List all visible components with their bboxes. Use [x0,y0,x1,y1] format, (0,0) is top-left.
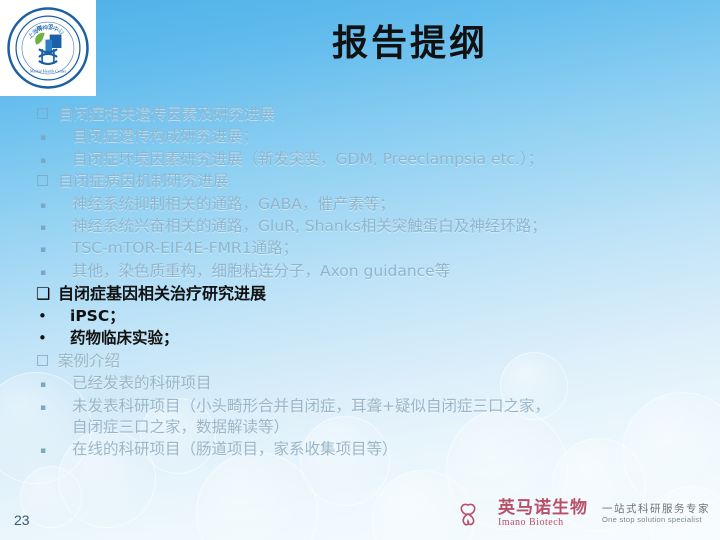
brand-tagline-cn: 一站式科研服务专家 [602,503,710,515]
presentation-slide: 上海市 精神卫 生中心 Mental Health Center 报告提纲 □自… [0,0,720,540]
decorative-bubble [372,470,474,540]
outline-item: ▪自闭症遗传构成研究进展； [36,126,698,147]
outline-item-label: 药物临床实验； [60,328,698,349]
outline-list: □自闭症相关遗传因素及研究进展▪自闭症遗传构成研究进展；▪自闭症环境因素研究进展… [36,104,698,462]
svg-text:Mental Health Center: Mental Health Center [30,68,67,73]
square-bullet-icon: □ [36,104,58,123]
outline-item-label: 神经系统兴奋相关的通路，GluR, Shanks相关突触蛋白及神经环路； [62,216,698,237]
outline-item-label: 自闭症遗传构成研究进展； [62,126,698,147]
outline-item-label: 在线的科研项目（肠道项目，家系收集项目等） [62,439,698,460]
outline-item: ▪已经发表的科研项目 [36,373,698,394]
outline-item-label: 神经系统抑制相关的通路，GABA，催产素等； [62,194,698,215]
outline-item: ▪TSC-mTOR-EIF4E-FMR1通路； [36,238,698,259]
outline-item-label: 案例介绍 [58,351,698,372]
small-bullet-icon: ▪ [36,216,62,234]
brand-tagline: 一站式科研服务专家 One stop solution specialist [596,503,710,524]
outline-item-label: TSC-mTOR-EIF4E-FMR1通路； [62,238,698,259]
outline-item-label: iPSC； [60,306,698,327]
outline-item-label: 未发表科研项目（小头畸形合并自闭症，耳聋+疑似自闭症三口之家， 自闭症三口之家，… [62,396,698,439]
brand-name-en: Imano Biotech [498,518,588,529]
outline-item: ❑自闭症基因相关治疗研究进展 [36,283,698,305]
square-bullet-icon: □ [36,351,58,370]
outline-item: ▪神经系统抑制相关的通路，GABA，催产素等； [36,194,698,215]
small-bullet-icon: ▪ [36,126,62,144]
square-bullet-icon: □ [36,171,58,190]
organization-logo-plate: 上海市 精神卫 生中心 Mental Health Center [0,0,96,96]
small-bullet-icon: ▪ [36,396,62,414]
decorative-bubble [196,452,318,540]
brand-names: 英马诺生物 Imano Biotech [498,500,588,528]
brand-name-cn: 英马诺生物 [498,500,588,518]
outline-item: ▪在线的科研项目（肠道项目，家系收集项目等） [36,439,698,460]
outline-item: ▪未发表科研项目（小头畸形合并自闭症，耳聋+疑似自闭症三口之家， 自闭症三口之家… [36,396,698,439]
outline-item: ▪神经系统兴奋相关的通路，GluR, Shanks相关突触蛋白及神经环路； [36,216,698,237]
organization-seal-icon: 上海市 精神卫 生中心 Mental Health Center [6,6,90,90]
outline-item: ▪自闭症环境因素研究进展（新发突变，GDM, Preeclampsia etc.… [36,149,698,170]
small-bullet-icon: ▪ [36,149,62,167]
outline-item: □案例介绍 [36,351,698,372]
brand-tagline-en: One stop solution specialist [602,516,710,525]
outline-item: ▪其他，染色质重构，细胞粘连分子，Axon guidance等 [36,261,698,282]
outline-item-label: 自闭症相关遗传因素及研究进展 [58,104,698,125]
outline-item-label: 自闭症病因机制研究进展 [58,171,698,192]
small-bullet-icon: ▪ [36,194,62,212]
outline-item: •iPSC； [36,306,698,327]
sponsor-brand: 英马诺生物 Imano Biotech 一站式科研服务专家 One stop s… [460,500,710,528]
outline-item: □自闭症病因机制研究进展 [36,171,698,192]
page-number: 23 [14,512,30,528]
outline-item: •药物临床实验； [36,328,698,349]
square-bullet-icon: ❑ [36,283,58,305]
small-bullet-icon: ▪ [36,439,62,457]
outline-item-label: 其他，染色质重构，细胞粘连分子，Axon guidance等 [62,261,698,282]
small-bullet-icon: ▪ [36,373,62,391]
outline-item: □自闭症相关遗传因素及研究进展 [36,104,698,125]
page-title: 报告提纲 [150,24,670,64]
outline-item-label: 自闭症基因相关治疗研究进展 [58,283,698,305]
small-bullet-icon: ▪ [36,261,62,279]
small-bullet-icon: • [36,306,60,327]
small-bullet-icon: • [36,328,60,349]
outline-item-label: 自闭症环境因素研究进展（新发突变，GDM, Preeclampsia etc.）… [62,149,698,170]
outline-item-label: 已经发表的科研项目 [62,373,698,394]
butterfly-heart-icon [460,501,490,527]
small-bullet-icon: ▪ [36,238,62,256]
